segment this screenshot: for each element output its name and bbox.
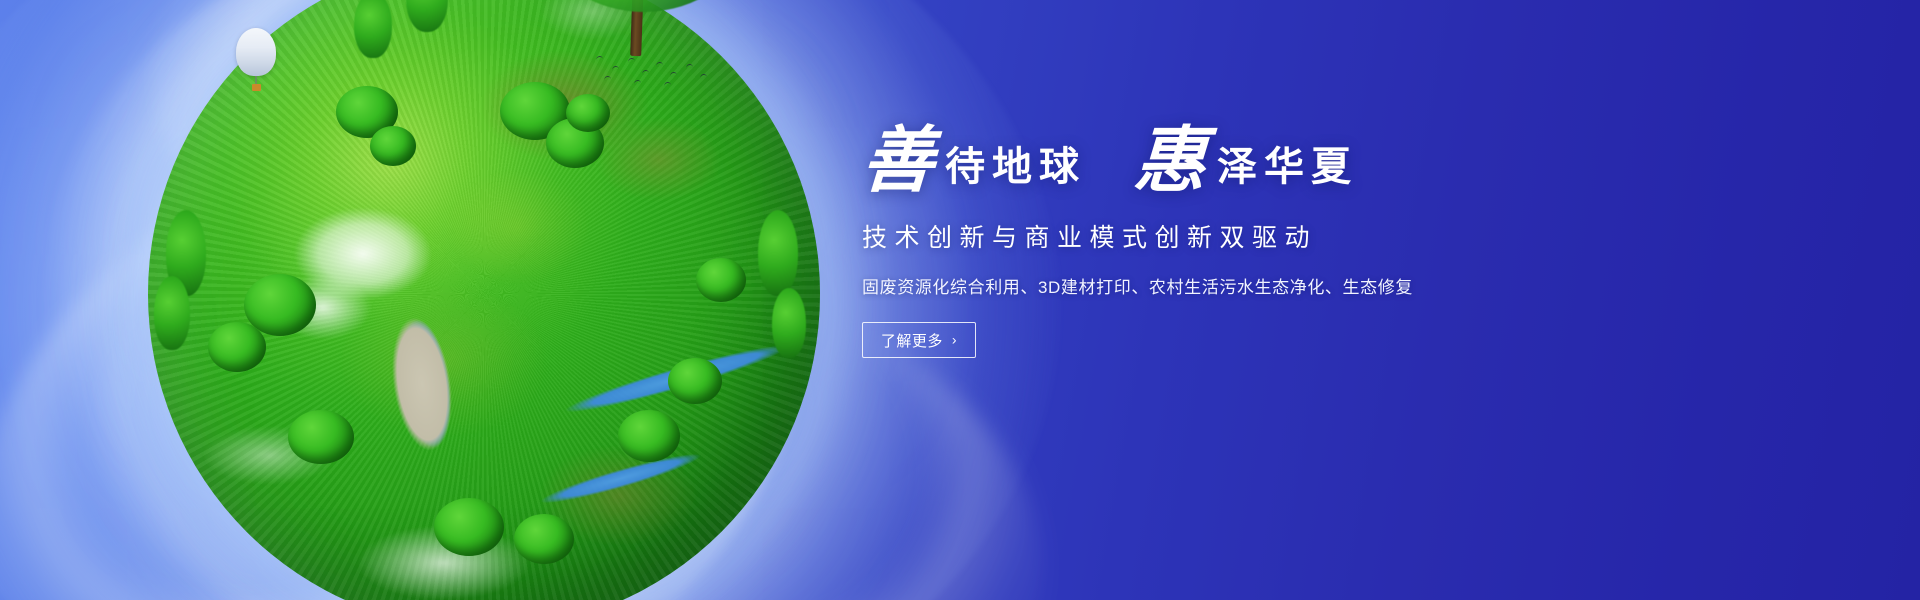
headline-phrase-1: 善 待地球 bbox=[862, 128, 1086, 194]
tree-icon bbox=[630, 0, 645, 56]
globe-lake bbox=[148, 0, 820, 600]
learn-more-label: 了解更多 bbox=[881, 330, 943, 351]
tree-icon bbox=[370, 126, 416, 166]
tree-icon bbox=[336, 86, 398, 138]
cloud-icon bbox=[0, 0, 881, 600]
tree-icon bbox=[566, 94, 610, 132]
globe-illustration bbox=[148, 0, 820, 600]
cloud-icon bbox=[22, 0, 859, 600]
headline-text-small-2: 泽华夏 bbox=[1207, 147, 1358, 194]
bird-flock-icon bbox=[612, 66, 619, 71]
banner-subtitle: 技术创新与商业模式创新双驱动 bbox=[862, 218, 1562, 254]
learn-more-button[interactable]: 了解更多 › bbox=[862, 322, 976, 358]
bird-flock-icon bbox=[686, 64, 693, 69]
bird-flock-icon bbox=[664, 82, 671, 87]
tree-icon bbox=[772, 288, 806, 358]
tree-icon bbox=[244, 274, 316, 336]
tree-icon bbox=[514, 514, 574, 564]
globe-river bbox=[148, 0, 820, 600]
hero-banner: 善 待地球 惠 泽华夏 技术创新与商业模式创新双驱动 固废资源化综合利用、3D建… bbox=[0, 0, 1920, 600]
cloud-icon bbox=[0, 40, 726, 600]
tree-icon bbox=[154, 276, 190, 350]
headline-text-small-1: 待地球 bbox=[935, 147, 1086, 194]
tree-icon bbox=[500, 82, 570, 140]
tree-icon bbox=[406, 0, 448, 32]
globe-grass-texture bbox=[148, 0, 820, 600]
banner-content: 善 待地球 惠 泽华夏 技术创新与商业模式创新双驱动 固废资源化综合利用、3D建… bbox=[862, 128, 1562, 358]
tree-icon bbox=[546, 0, 742, 12]
bird-flock-icon bbox=[634, 80, 641, 85]
headline-char-large-1: 善 bbox=[860, 128, 936, 194]
chevron-right-icon: › bbox=[952, 333, 957, 347]
tree-icon bbox=[758, 210, 798, 296]
bird-flock-icon bbox=[670, 72, 677, 77]
bird-flock-icon bbox=[642, 70, 649, 75]
hot-air-balloon-icon bbox=[252, 84, 261, 91]
bird-flock-icon bbox=[596, 56, 603, 61]
tree-icon bbox=[434, 498, 504, 556]
bird-flock-icon bbox=[656, 62, 663, 67]
tree-icon bbox=[166, 210, 206, 296]
tree-icon bbox=[288, 410, 354, 464]
globe-icon bbox=[148, 0, 820, 600]
bird-flock-icon bbox=[628, 58, 635, 63]
banner-description: 固废资源化综合利用、3D建材打印、农村生活污水生态净化、生态修复 bbox=[862, 273, 1562, 298]
headline-char-large-2: 惠 bbox=[1132, 128, 1208, 194]
headline: 善 待地球 惠 泽华夏 bbox=[862, 128, 1562, 194]
tree-icon bbox=[354, 0, 392, 58]
globe-terrain-texture bbox=[148, 0, 820, 600]
tree-icon bbox=[668, 358, 722, 404]
cloud-icon bbox=[148, 0, 820, 600]
globe-atmosphere bbox=[102, 0, 866, 600]
tree-icon bbox=[696, 258, 746, 302]
headline-phrase-2: 惠 泽华夏 bbox=[1134, 128, 1358, 194]
tree-icon bbox=[546, 118, 604, 168]
bird-flock-icon bbox=[604, 76, 611, 81]
cloud-icon bbox=[123, 0, 736, 337]
tree-icon bbox=[618, 410, 680, 462]
hot-air-balloon-icon bbox=[236, 28, 276, 76]
bird-flock-icon bbox=[700, 74, 707, 79]
tree-icon bbox=[208, 322, 266, 372]
